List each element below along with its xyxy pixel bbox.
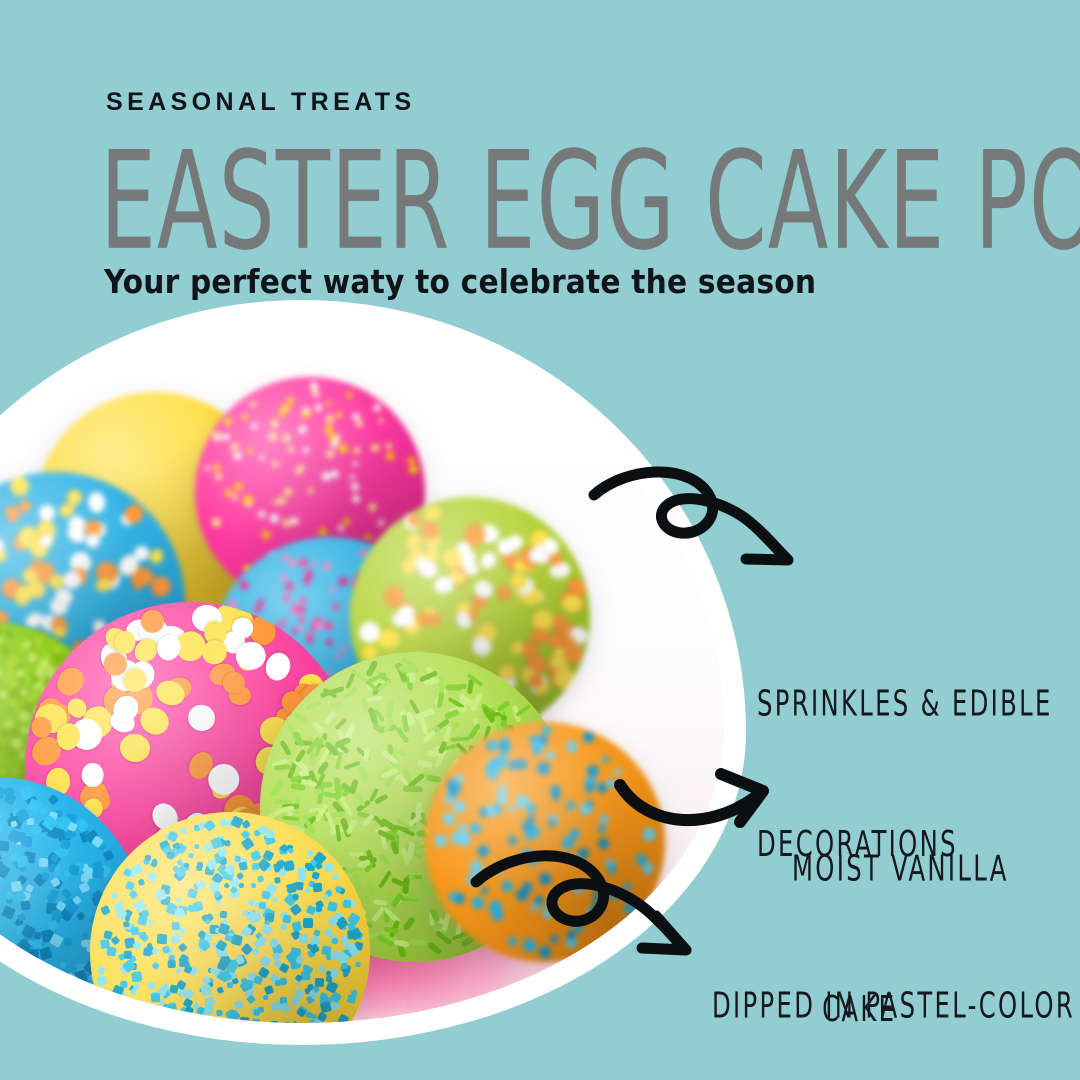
- annotation-coating: DIPPED IN PASTEL-COLOR CANDY COATING: [712, 890, 1075, 1080]
- arrow-coating-icon: [470, 840, 720, 975]
- annotation-cake-line1: MOIST VANILLA: [792, 846, 1009, 893]
- annotation-sprinkles-line1: SPRINKLES & EDIBLE: [757, 681, 1053, 728]
- annotation-coating-line1: DIPPED IN PASTEL-COLOR: [712, 983, 1075, 1030]
- page-title: EASTER EGG CAKE POPS: [100, 134, 1080, 270]
- eyebrow-text: SEASONAL TREATS: [106, 88, 416, 117]
- arrow-sprinkles-icon: [588, 455, 818, 590]
- poster-canvas: SEASONAL TREATS EASTER EGG CAKE POPS You…: [0, 0, 1080, 1080]
- subtitle-text: Your perfect waty to celebrate the seaso…: [104, 262, 816, 301]
